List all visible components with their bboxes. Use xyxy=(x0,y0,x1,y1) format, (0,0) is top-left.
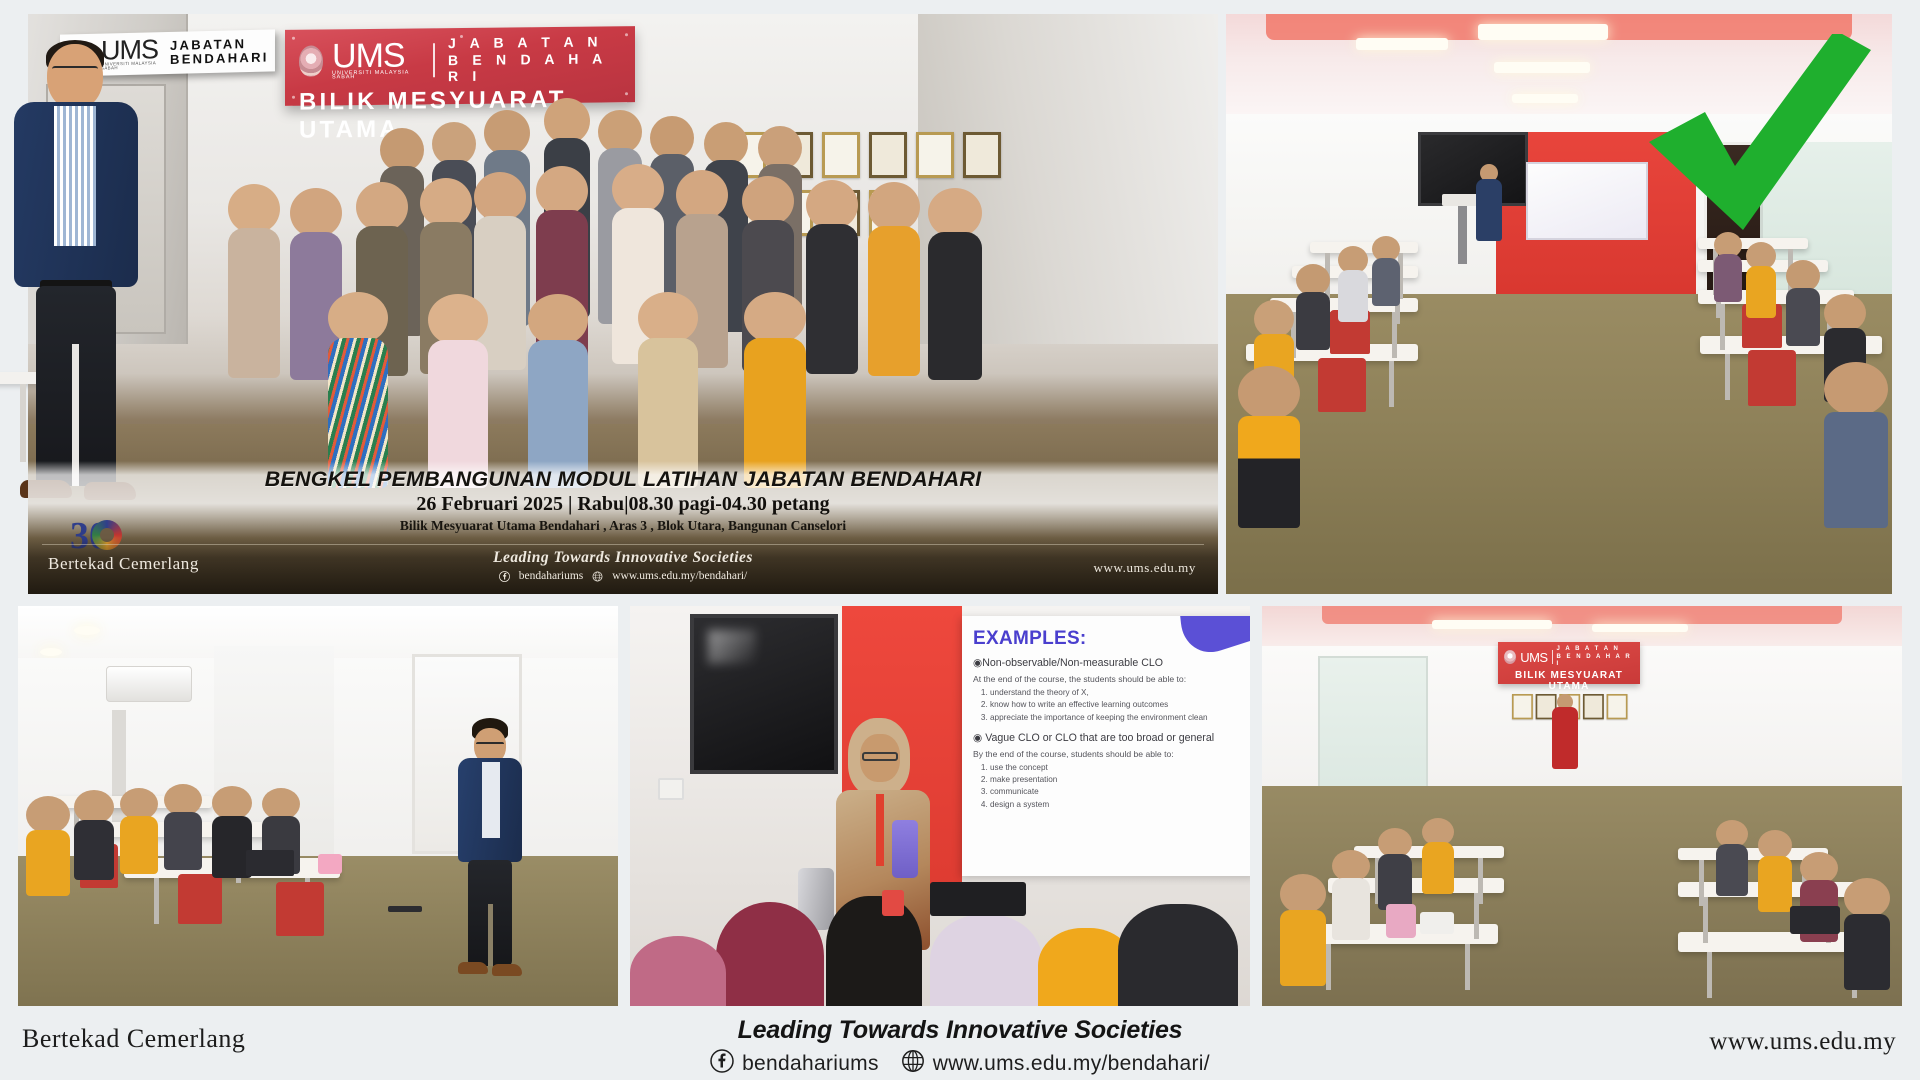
chair xyxy=(1318,358,1366,412)
participant-seated xyxy=(428,294,488,488)
glasses-icon xyxy=(862,752,898,761)
facebook-handle: bendahariums xyxy=(742,1052,879,1076)
podium-stand xyxy=(1458,200,1467,264)
participant-seated xyxy=(1714,232,1742,302)
slide-list-item: design a system xyxy=(990,799,1247,811)
slide-list-item: know how to write an effective learning … xyxy=(990,699,1247,711)
participant-seated xyxy=(1238,366,1300,528)
facebook-icon xyxy=(499,571,510,582)
chair xyxy=(178,874,222,924)
slide-bullet-1: ◉Non-observable/Non-measurable CLO xyxy=(973,657,1247,669)
slide-bullet-2: ◉ Vague CLO or CLO that are too broad or… xyxy=(973,732,1247,744)
sign-divider xyxy=(1552,650,1553,664)
participant-seated xyxy=(1296,264,1330,350)
slide-list-item: make presentation xyxy=(990,774,1247,786)
check-icon xyxy=(1639,34,1874,234)
laptop xyxy=(1790,906,1840,934)
website-url: www.ums.edu.my/bendahari/ xyxy=(933,1052,1210,1076)
laptop xyxy=(930,882,1026,916)
participant-foreground xyxy=(826,896,922,1006)
presenter-standing xyxy=(454,722,526,982)
participant xyxy=(868,182,920,376)
participant-seated xyxy=(744,292,806,488)
department-line-1: J A B A T A N xyxy=(448,33,621,51)
slide-bullet-1-text: Non-observable/Non-measurable CLO xyxy=(982,657,1163,669)
glasses-icon xyxy=(476,742,504,749)
ceiling-light xyxy=(1512,94,1578,103)
photo-inner-footer: Bertekad Cemerlang Leading Towards Innov… xyxy=(28,538,1218,594)
ceiling-light xyxy=(1494,62,1590,73)
slide-lead-2: By the end of the course, students shoul… xyxy=(973,749,1247,759)
event-date: 26 Februari 2025 | Rabu|08.30 pagi-04.30… xyxy=(28,493,1218,516)
presenter-shoe xyxy=(458,962,488,974)
participant-seated xyxy=(328,292,388,488)
facebook-handle: bendahariums xyxy=(519,570,584,582)
participant-seated xyxy=(1844,878,1890,990)
water-bottle xyxy=(892,820,918,878)
ceiling-light xyxy=(1432,620,1552,629)
presentation-slide: EXAMPLES: ◉Non-observable/Non-measurable… xyxy=(962,616,1250,876)
presenter-at-podium xyxy=(1476,164,1502,256)
department-line-2: B E N D A H A R I xyxy=(1557,654,1634,669)
participant xyxy=(228,184,280,378)
glasses-icon xyxy=(52,66,98,76)
event-title: BENGKEL PEMBANGUNAN MODUL LATIHAN JABATA… xyxy=(28,467,1218,492)
wall-socket xyxy=(658,778,684,800)
bilik-mesyuarat-utama-sign: UMS J A B A T A N B E N D A H A R I BILI… xyxy=(1498,642,1640,684)
ums-crest-icon xyxy=(299,46,323,77)
participant xyxy=(806,180,858,374)
footer-social-links: bendahariums www.ums.edu.my/bendahari/ xyxy=(0,1049,1920,1079)
ceiling-light xyxy=(1592,624,1688,632)
slide-list-item: understand the theory of X, xyxy=(990,687,1247,699)
participant-seated xyxy=(120,788,158,874)
participant-seated xyxy=(1372,236,1400,306)
slide-presentation-panel: EXAMPLES: ◉Non-observable/Non-measurable… xyxy=(630,606,1250,1006)
participant-seated xyxy=(1786,260,1820,346)
water-bottle xyxy=(1386,904,1416,938)
participant-seated xyxy=(1746,242,1776,318)
slide-list-item: appreciate the importance of keeping the… xyxy=(990,712,1247,724)
slide-decoration xyxy=(1179,616,1250,662)
participant xyxy=(928,188,982,380)
department-line-2: BENDAHARI xyxy=(170,51,269,67)
photo-collage: UMS UNIVERSITI MALAYSIA SABAH JABATAN BE… xyxy=(0,0,1920,1080)
certificate-frame xyxy=(1512,694,1533,719)
lanyard xyxy=(876,794,884,866)
social-links: bendahariums www.ums.edu.my/bendahari/ xyxy=(28,570,1218,582)
ceiling-light xyxy=(40,648,62,656)
event-caption: BENGKEL PEMBANGUNAN MODUL LATIHAN JABATA… xyxy=(28,461,1218,538)
slide-list-item: communicate xyxy=(990,786,1247,798)
participant-foreground xyxy=(930,914,1042,1006)
slide-list-1: understand the theory of X, know how to … xyxy=(990,687,1247,724)
presenter-standing xyxy=(1552,694,1578,786)
ceiling-light xyxy=(1356,38,1448,50)
facebook-icon xyxy=(710,1049,734,1079)
slide-lead-1: At the end of the course, the students s… xyxy=(973,674,1247,684)
slogan-text: Leading Towards Innovative Societies xyxy=(28,549,1218,567)
chair xyxy=(1748,350,1796,406)
website-link[interactable]: www.ums.edu.my/bendahari/ xyxy=(901,1049,1210,1079)
globe-icon xyxy=(592,571,603,582)
participant-seated xyxy=(1378,828,1412,910)
classroom-wide-panel xyxy=(1226,14,1892,594)
slide-list-item: use the concept xyxy=(990,762,1247,774)
department-name: JABATAN BENDAHARI xyxy=(170,36,269,66)
air-conditioner xyxy=(106,666,192,702)
slide-list-2: use the concept make presentation commun… xyxy=(990,762,1247,811)
ceiling-light xyxy=(74,626,100,635)
projection-screen xyxy=(1526,162,1648,240)
participant-seated xyxy=(1338,246,1368,322)
participant-seated xyxy=(1758,830,1792,912)
ceiling-red-accent xyxy=(1322,606,1842,624)
department-line-1: J A B A T A N xyxy=(1557,646,1634,654)
cable xyxy=(388,906,422,912)
website-url: www.ums.edu.my/bendahari/ xyxy=(612,570,747,582)
participant-foreground xyxy=(630,936,726,1006)
leg-gap xyxy=(488,904,493,966)
participant-seated xyxy=(1824,362,1888,528)
certificate-frame xyxy=(1583,694,1604,719)
group-of-participants xyxy=(28,74,1218,504)
wall-monitor xyxy=(690,614,838,774)
ums-crest-icon xyxy=(1504,650,1516,664)
certificate-frame xyxy=(1607,694,1628,719)
participant-seated xyxy=(638,292,698,488)
group-photo-panel: UMS UNIVERSITI MALAYSIA SABAH JABATAN BE… xyxy=(28,14,1218,594)
slide-bullet-2-text: Vague CLO or CLO that are too broad or g… xyxy=(985,732,1214,744)
presenter-head xyxy=(47,44,103,110)
page-footer: Bertekad Cemerlang Leading Towards Innov… xyxy=(0,1008,1920,1080)
presenter-standing xyxy=(0,44,162,524)
chair xyxy=(276,882,324,936)
footer-slogan: Leading Towards Innovative Societies xyxy=(0,1016,1920,1045)
presenter-shoe xyxy=(492,964,522,976)
footer-ums-url: www.ums.edu.my xyxy=(1709,1028,1896,1056)
participant-seated xyxy=(528,294,588,488)
participant-seated xyxy=(74,790,114,880)
facebook-link[interactable]: bendahariums xyxy=(710,1049,879,1079)
room-name: BILIK MESYUARAT UTAMA xyxy=(1498,670,1640,692)
notebook xyxy=(1420,912,1454,934)
water-bottle xyxy=(318,854,342,874)
classroom-left-panel xyxy=(18,606,618,1006)
presenter-shirt xyxy=(54,106,96,246)
drink-can xyxy=(882,890,904,916)
presenter-shirt xyxy=(482,762,500,838)
ums-text: UMS xyxy=(1520,651,1547,664)
classroom-right-panel: UMS J A B A T A N B E N D A H A R I BILI… xyxy=(1262,606,1902,1006)
footer-divider xyxy=(42,544,1204,545)
ceiling-light xyxy=(1478,24,1608,40)
participant-seated xyxy=(1280,874,1326,986)
globe-icon xyxy=(901,1049,925,1079)
sign-divider xyxy=(433,43,435,77)
participant-seated xyxy=(1422,818,1454,894)
participant-foreground xyxy=(1118,904,1238,1006)
participant-seated xyxy=(164,784,202,870)
participant-seated xyxy=(26,796,70,896)
participant-foreground xyxy=(716,902,824,1006)
laptop xyxy=(246,850,294,876)
department-name: J A B A T A N B E N D A H A R I xyxy=(1557,646,1634,669)
participant-seated xyxy=(1716,820,1748,896)
event-venue: Bilik Mesyuarat Utama Bendahari , Aras 3… xyxy=(28,518,1218,534)
ums-url: www.ums.edu.my xyxy=(1093,560,1196,576)
participant-seated xyxy=(1332,850,1370,940)
